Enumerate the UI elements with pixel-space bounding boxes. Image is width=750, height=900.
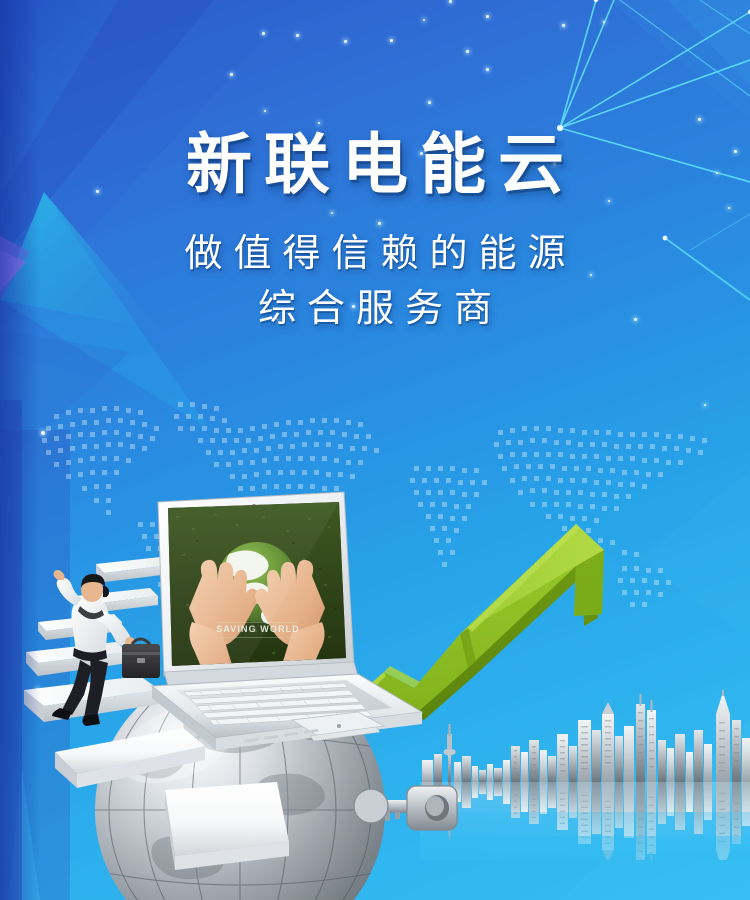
subtitle-line-2: 综合服务商 [0, 281, 750, 336]
key-icon [354, 786, 457, 830]
subtitle-line-1: 做值得信赖的能源 [0, 226, 750, 281]
promo-banner: 新联电能云 做值得信赖的能源 综合服务商 [0, 0, 750, 900]
floating-slab [165, 782, 289, 870]
laptop-illustration: SAVING WORLD [96, 480, 426, 780]
headline-block: 新联电能云 做值得信赖的能源 综合服务商 [0, 128, 750, 336]
main-title: 新联电能云 [0, 128, 750, 202]
